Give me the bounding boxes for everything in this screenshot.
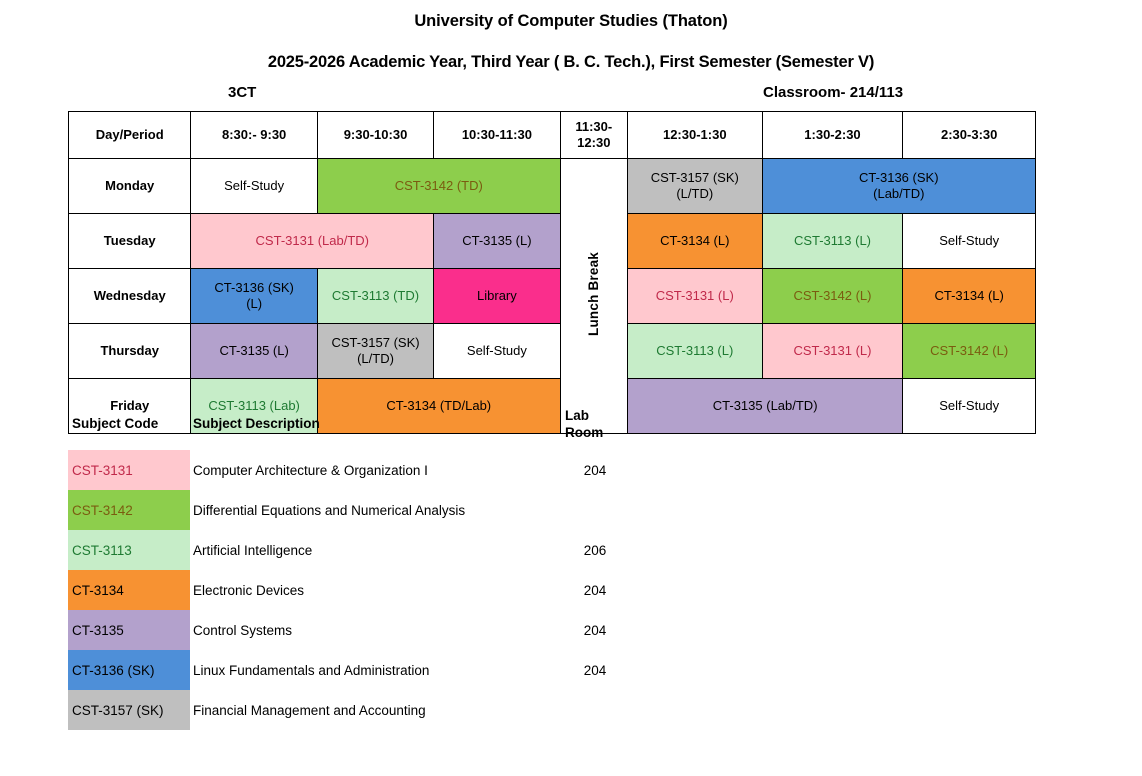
legend-subject-code: CT-3135 (68, 610, 190, 650)
timetable: Day/Period8:30:- 9:309:30-10:3010:30-11:… (68, 111, 1036, 434)
timetable-session-cell[interactable]: CT-3134 (L) (627, 214, 762, 269)
timetable-col-period-4: 11:30-12:30 (560, 112, 627, 159)
timetable-container: Day/Period8:30:- 9:309:30-10:3010:30-11:… (68, 111, 1036, 434)
timetable-session-cell[interactable]: CT-3135 (L) (191, 324, 317, 379)
timetable-session-cell[interactable]: CST-3142 (TD) (317, 159, 560, 214)
timetable-session-cell[interactable]: CT-3135 (L) (434, 214, 560, 269)
timetable-session-cell[interactable]: Self-Study (903, 214, 1036, 269)
legend-lab-room: 204 (565, 610, 625, 650)
timetable-row: ThursdayCT-3135 (L)CST-3157 (SK)(L/TD)Se… (69, 324, 1036, 379)
timetable-day-label: Wednesday (69, 269, 191, 324)
timetable-session-cell[interactable]: Library (434, 269, 560, 324)
timetable-session-cell[interactable]: CST-3113 (L) (627, 324, 762, 379)
legend-subject-code: CST-3157 (SK) (68, 690, 190, 730)
subject-legend: Subject Code Subject Description LabRoom… (68, 412, 768, 730)
timetable-row: TuesdayCST-3131 (Lab/TD)CT-3135 (L)CT-31… (69, 214, 1036, 269)
legend-subject-description: Computer Architecture & Organization I (193, 450, 428, 490)
legend-lab-room: 204 (565, 650, 625, 690)
timetable-day-label: Thursday (69, 324, 191, 379)
legend-item: CST-3142Differential Equations and Numer… (68, 490, 768, 530)
timetable-col-period-2: 9:30-10:30 (317, 112, 433, 159)
timetable-session-cell[interactable]: CT-3136 (SK)(Lab/TD) (762, 159, 1035, 214)
legend-header-lab-room: LabRoom (565, 408, 603, 442)
legend-subject-code: CST-3131 (68, 450, 190, 490)
class-label: 3CT (228, 84, 256, 101)
timetable-day-label: Monday (69, 159, 191, 214)
timetable-session-cell[interactable]: CST-3113 (L) (762, 214, 903, 269)
timetable-col-period-5: 12:30-1:30 (627, 112, 762, 159)
legend-rows: CST-3131Computer Architecture & Organiza… (68, 450, 768, 730)
timetable-col-period-7: 2:30-3:30 (903, 112, 1036, 159)
timetable-session-cell[interactable]: CT-3136 (SK)(L) (191, 269, 317, 324)
academic-year-title: 2025-2026 Academic Year, Third Year ( B.… (0, 31, 1142, 72)
legend-item: CT-3134Electronic Devices204 (68, 570, 768, 610)
timetable-session-cell[interactable]: CST-3113 (TD) (317, 269, 433, 324)
timetable-session-cell[interactable]: CST-3142 (L) (762, 269, 903, 324)
classroom-label: Classroom- 214/113 (763, 84, 903, 101)
timetable-session-cell[interactable]: CST-3131 (L) (627, 269, 762, 324)
timetable-header-row: Day/Period8:30:- 9:309:30-10:3010:30-11:… (69, 112, 1036, 159)
lunch-break-cell: Lunch Break (560, 159, 627, 434)
legend-subject-description: Financial Management and Accounting (193, 690, 426, 730)
timetable-col-period-3: 10:30-11:30 (434, 112, 560, 159)
legend-header-row: Subject Code Subject Description LabRoom (68, 412, 768, 450)
legend-subject-code: CST-3142 (68, 490, 190, 530)
timetable-session-cell[interactable]: CST-3131 (L) (762, 324, 903, 379)
university-title: University of Computer Studies (Thaton) (0, 0, 1142, 31)
legend-subject-description: Linux Fundamentals and Administration (193, 650, 429, 690)
legend-lab-room: 206 (565, 530, 625, 570)
subheader-row: 3CT Classroom- 214/113 (0, 84, 1142, 108)
legend-subject-code: CT-3134 (68, 570, 190, 610)
legend-lab-room (565, 690, 625, 730)
legend-lab-room: 204 (565, 450, 625, 490)
timetable-day-label: Tuesday (69, 214, 191, 269)
legend-subject-description: Differential Equations and Numerical Ana… (193, 490, 465, 530)
legend-item: CT-3135Control Systems204 (68, 610, 768, 650)
legend-subject-description: Electronic Devices (193, 570, 304, 610)
legend-header-code: Subject Code (72, 416, 158, 431)
legend-item: CT-3136 (SK)Linux Fundamentals and Admin… (68, 650, 768, 690)
timetable-session-cell[interactable]: CST-3142 (L) (903, 324, 1036, 379)
legend-header-description: Subject Description (193, 416, 320, 431)
legend-subject-description: Artificial Intelligence (193, 530, 312, 570)
timetable-session-cell[interactable]: CST-3157 (SK)(L/TD) (627, 159, 762, 214)
timetable-row: WednesdayCT-3136 (SK)(L)CST-3113 (TD)Lib… (69, 269, 1036, 324)
timetable-session-cell[interactable]: Self-Study (903, 379, 1036, 434)
legend-lab-room: 204 (565, 570, 625, 610)
legend-subject-description: Control Systems (193, 610, 292, 650)
legend-item: CST-3157 (SK)Financial Management and Ac… (68, 690, 768, 730)
timetable-session-cell[interactable]: Self-Study (434, 324, 560, 379)
timetable-session-cell[interactable]: Self-Study (191, 159, 317, 214)
timetable-session-cell[interactable]: CST-3131 (Lab/TD) (191, 214, 434, 269)
timetable-body: MondaySelf-StudyCST-3142 (TD)Lunch Break… (69, 159, 1036, 434)
legend-subject-code: CT-3136 (SK) (68, 650, 190, 690)
timetable-col-period-1: 8:30:- 9:30 (191, 112, 317, 159)
timetable-col-day: Day/Period (69, 112, 191, 159)
legend-item: CST-3131Computer Architecture & Organiza… (68, 450, 768, 490)
document-header: University of Computer Studies (Thaton) … (0, 0, 1142, 72)
legend-item: CST-3113Artificial Intelligence206 (68, 530, 768, 570)
legend-lab-room (565, 490, 625, 530)
timetable-col-period-6: 1:30-2:30 (762, 112, 903, 159)
timetable-row: MondaySelf-StudyCST-3142 (TD)Lunch Break… (69, 159, 1036, 214)
lunch-break-label: Lunch Break (586, 252, 602, 336)
timetable-session-cell[interactable]: CST-3157 (SK)(L/TD) (317, 324, 433, 379)
timetable-head: Day/Period8:30:- 9:309:30-10:3010:30-11:… (69, 112, 1036, 159)
legend-subject-code: CST-3113 (68, 530, 190, 570)
timetable-session-cell[interactable]: CT-3134 (L) (903, 269, 1036, 324)
